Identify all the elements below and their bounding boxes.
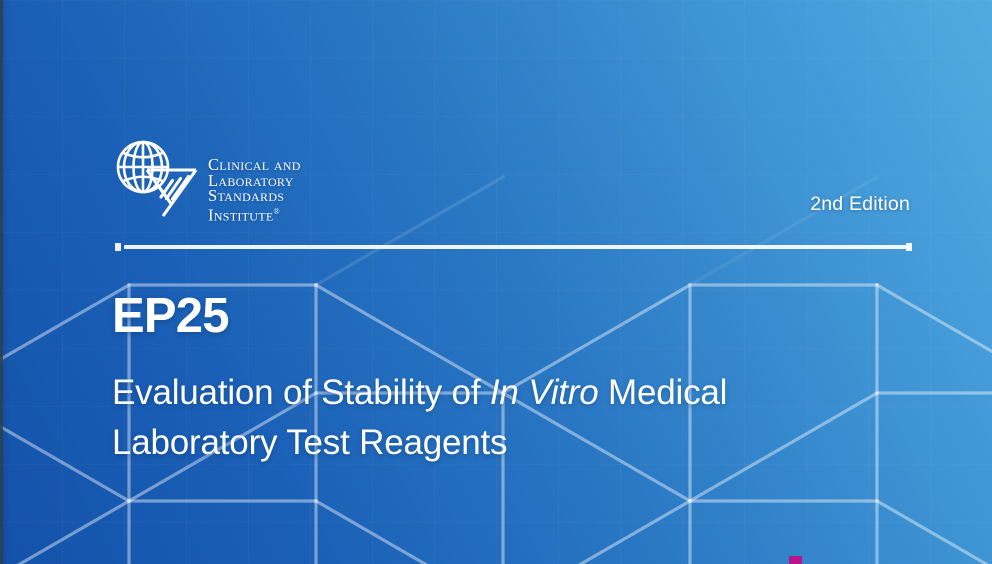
background-texture <box>0 0 992 564</box>
header-divider <box>115 243 912 251</box>
triangular-lattice-pattern <box>0 0 992 564</box>
title-part-italic: In Vitro <box>490 373 599 412</box>
org-name-line-4: Institute® <box>208 204 301 223</box>
clsi-logo: Clinical and Laboratory Standards Instit… <box>110 136 301 228</box>
edition-label: 2nd Edition <box>810 193 910 216</box>
left-page-edge <box>0 0 3 564</box>
document-code: EP25 <box>112 292 229 341</box>
divider-end-cap-right <box>906 243 912 251</box>
org-name-line-3: Standards <box>208 188 301 204</box>
organization-name: Clinical and Laboratory Standards Instit… <box>208 157 301 223</box>
divider-end-cap-left <box>115 243 121 251</box>
globe-triangle-logo-icon <box>110 136 202 228</box>
title-part-post: Medical <box>599 373 728 412</box>
edge-vignette <box>0 0 992 564</box>
document-title: Evaluation of Stability of In Vitro Medi… <box>112 368 912 468</box>
magenta-accent-mark <box>789 556 802 564</box>
title-part-pre: Evaluation of Stability of <box>112 373 490 412</box>
registered-trademark-symbol: ® <box>274 207 280 216</box>
org-name-line-4-text: Institute <box>208 205 274 224</box>
document-cover-page: Clinical and Laboratory Standards Instit… <box>0 0 992 564</box>
title-line-2: Laboratory Test Reagents <box>112 423 507 462</box>
divider-line <box>124 245 910 249</box>
